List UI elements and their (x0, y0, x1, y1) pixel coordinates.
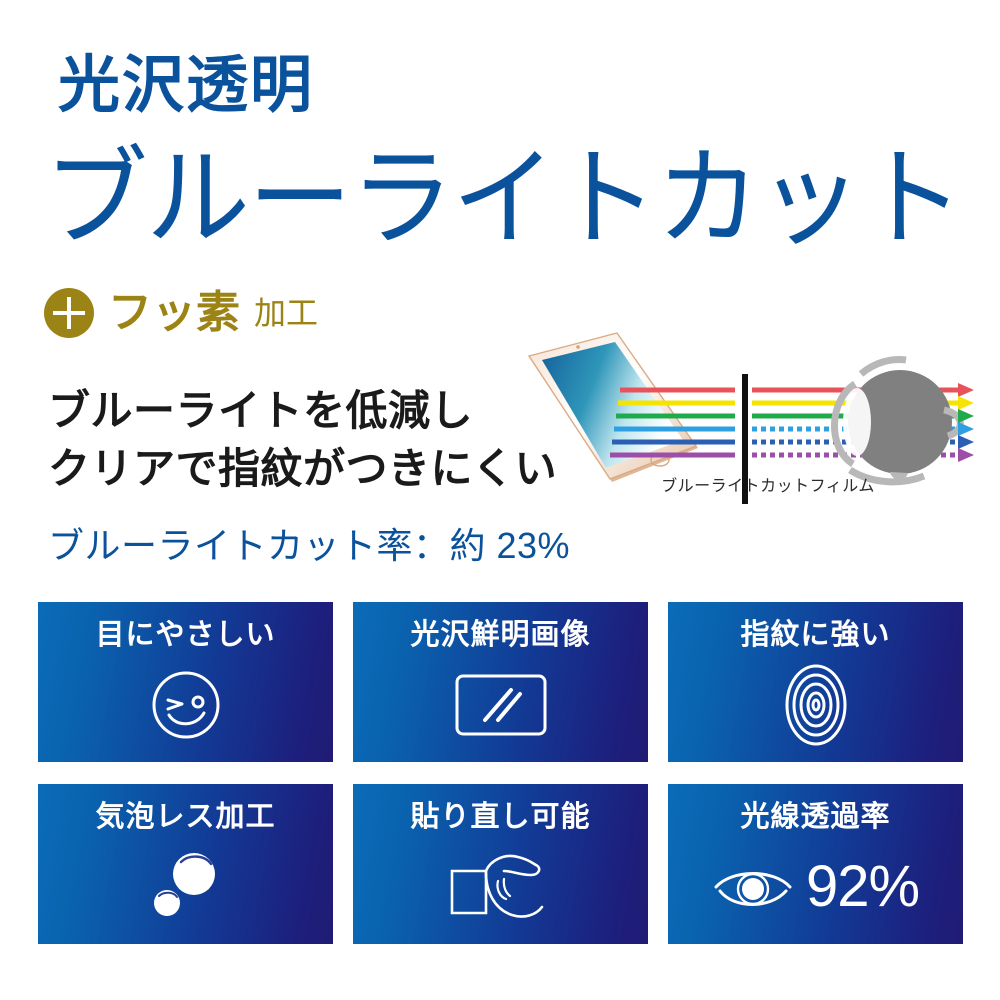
glossy-screen-icon (353, 648, 648, 762)
page-title-line1: 光沢透明 (58, 52, 314, 120)
transmittance-value: 92% (806, 858, 919, 916)
marketing-copy: ブルーライトを低減し クリアで指紋がつきにくい (48, 382, 557, 498)
feature-card-glossy-image[interactable]: 光沢鮮明画像 (353, 602, 648, 762)
marketing-copy-line2: クリアで指紋がつきにくい (48, 440, 557, 498)
feature-card-fingerprint[interactable]: 指紋に強い (668, 602, 963, 762)
tablet-illustration (529, 333, 698, 482)
winking-face-icon (38, 648, 333, 762)
plus-circle-icon (44, 288, 94, 338)
feature-card-eye-friendly[interactable]: 目にやさしい (38, 602, 333, 762)
feature-card-bubble-less[interactable]: 気泡レス加工 (38, 784, 333, 944)
eye-icon (712, 861, 796, 913)
transmittance-value-row: 92% (668, 830, 963, 944)
product-feature-poster: 光沢透明 ブルーライトカット フッ素 加工 ブルーライトを低減し クリアで指紋が… (0, 0, 1000, 1000)
peeling-hand-icon (353, 830, 648, 944)
fluorine-sub-label: 加工 (254, 297, 318, 329)
eye-cross-section-icon (834, 360, 960, 482)
feature-card-re-attachable[interactable]: 貼り直し可能 (353, 784, 648, 944)
page-title-line2: ブルーライトカット (44, 140, 962, 256)
fingerprint-icon (668, 648, 963, 762)
feature-card-transmittance[interactable]: 光線透過率 92% (668, 784, 963, 944)
fluorine-label: フッ素 (108, 291, 240, 335)
feature-grid: 目にやさしい 光沢鮮明画像 指 (38, 602, 963, 944)
blue-light-cut-rate: ブルーライトカット率：約 23% (48, 524, 570, 568)
diagram-caption: ブルーライトカットフィルム (648, 472, 888, 496)
bubbles-icon (38, 830, 333, 944)
fluorine-coating-badge: フッ素 加工 (44, 288, 318, 338)
marketing-copy-line1: ブルーライトを低減し (48, 382, 557, 440)
